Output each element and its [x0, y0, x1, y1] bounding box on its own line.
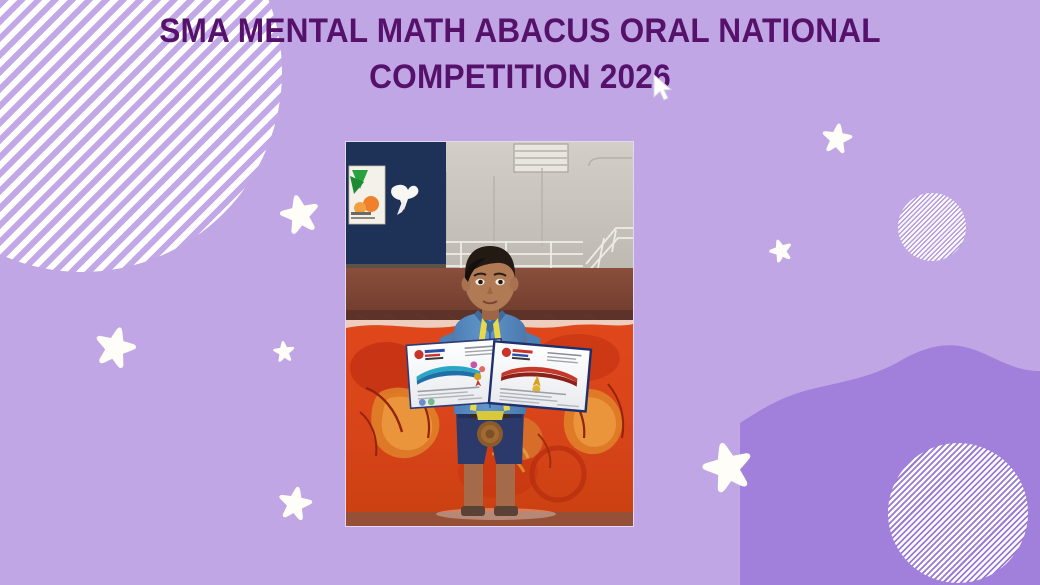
star-left-middle-icon: [87, 320, 143, 376]
wall-vent: [514, 144, 568, 172]
competition-winner-photo: [346, 142, 633, 526]
wave-blob-bottom-right-icon: [740, 305, 1040, 585]
striped-circle-bottom-right-icon: [888, 443, 1028, 583]
presentation-slide: SMA MENTAL MATH ABACUS ORAL NATIONAL COM…: [0, 0, 1040, 585]
notice-board: [346, 142, 446, 271]
star-right-upper-icon: [765, 235, 798, 268]
poster: [349, 166, 385, 224]
star-lower-left-icon: [273, 482, 317, 526]
star-middle-small-icon: [271, 339, 297, 365]
star-top-right-icon: [818, 120, 856, 158]
striped-circle-top-right-icon: [898, 193, 966, 261]
certificate-right: [489, 341, 591, 411]
mouse-cursor-icon: [652, 74, 674, 104]
photo-content: [346, 142, 633, 526]
star-top-middle-left-icon: [274, 189, 326, 241]
star-bottom-right-icon: [694, 434, 762, 502]
page-title: SMA MENTAL MATH ABACUS ORAL NATIONAL COM…: [36, 8, 1003, 100]
